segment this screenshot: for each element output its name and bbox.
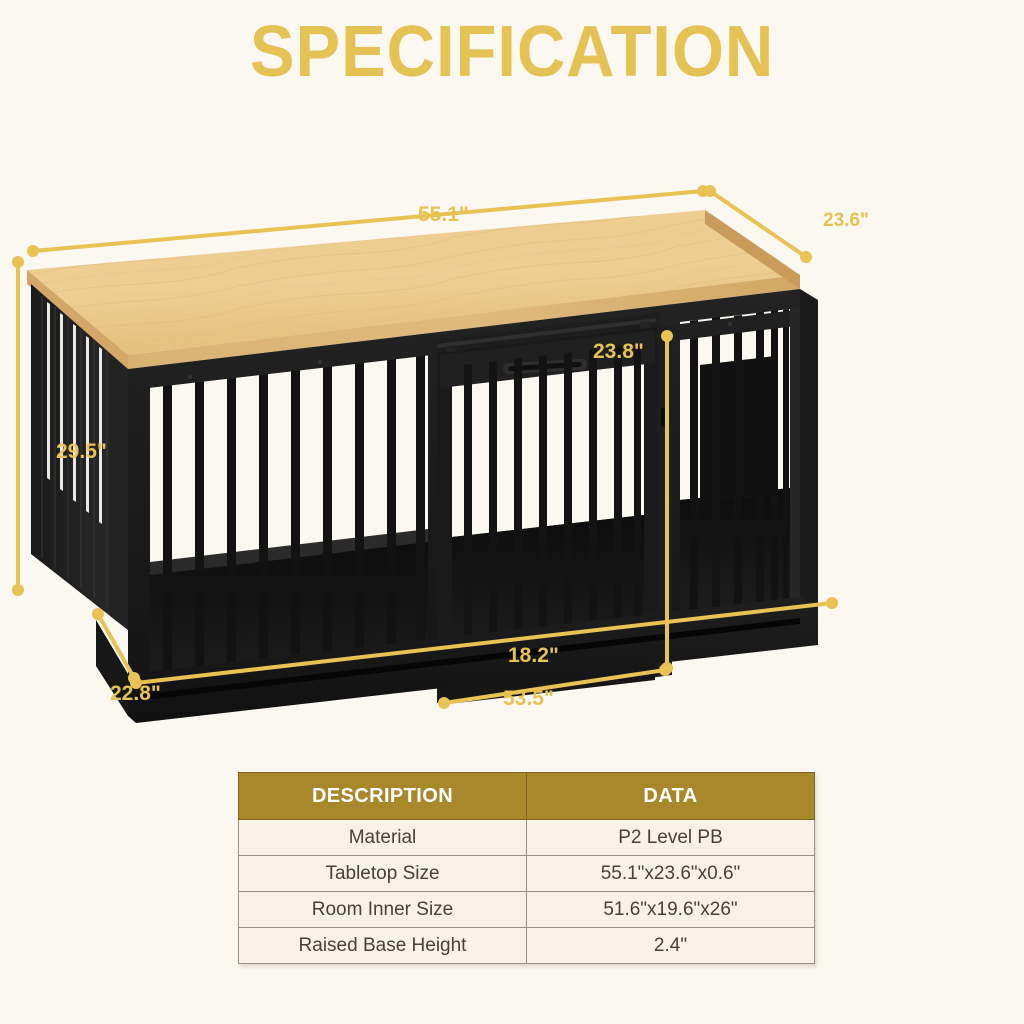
dim-label-door-width: 18.2": [508, 644, 559, 668]
dim-label-base-width: 53.5": [503, 687, 554, 711]
dim-label-height: 29.5": [56, 440, 107, 464]
table-row: Room Inner Size 51.6"x19.6"x26": [239, 892, 815, 928]
specification-table: DESCRIPTION DATA Material P2 Level PB Ta…: [238, 772, 815, 964]
column-header-description: DESCRIPTION: [239, 773, 527, 820]
screw-dot: [318, 360, 322, 364]
table-header-row: DESCRIPTION DATA: [239, 773, 815, 820]
cell-data: 55.1"x23.6"x0.6": [527, 856, 815, 892]
dim-label-door-height: 23.8": [593, 340, 644, 364]
cell-description: Raised Base Height: [239, 928, 527, 964]
column-header-data: DATA: [527, 773, 815, 820]
product-illustration: 55.1" 23.6" 29.5" 23.8" 18.2" 22.8" 53.5…: [0, 150, 1024, 750]
right-side-face: [800, 289, 818, 620]
table-row: Tabletop Size 55.1"x23.6"x0.6": [239, 856, 815, 892]
cell-description: Tabletop Size: [239, 856, 527, 892]
screw-dot: [188, 375, 192, 379]
cell-data: P2 Level PB: [527, 820, 815, 856]
dim-label-base-depth: 22.8": [110, 682, 161, 706]
table-row: Material P2 Level PB: [239, 820, 815, 856]
dim-label-top-depth: 23.6": [823, 210, 869, 232]
cell-description: Room Inner Size: [239, 892, 527, 928]
page-title: SPECIFICATION: [36, 16, 988, 89]
dim-label-top-width: 55.1": [418, 203, 469, 227]
cell-data: 2.4": [527, 928, 815, 964]
cell-description: Material: [239, 820, 527, 856]
table-row: Raised Base Height 2.4": [239, 928, 815, 964]
screw-dot: [728, 322, 732, 326]
cell-data: 51.6"x19.6"x26": [527, 892, 815, 928]
